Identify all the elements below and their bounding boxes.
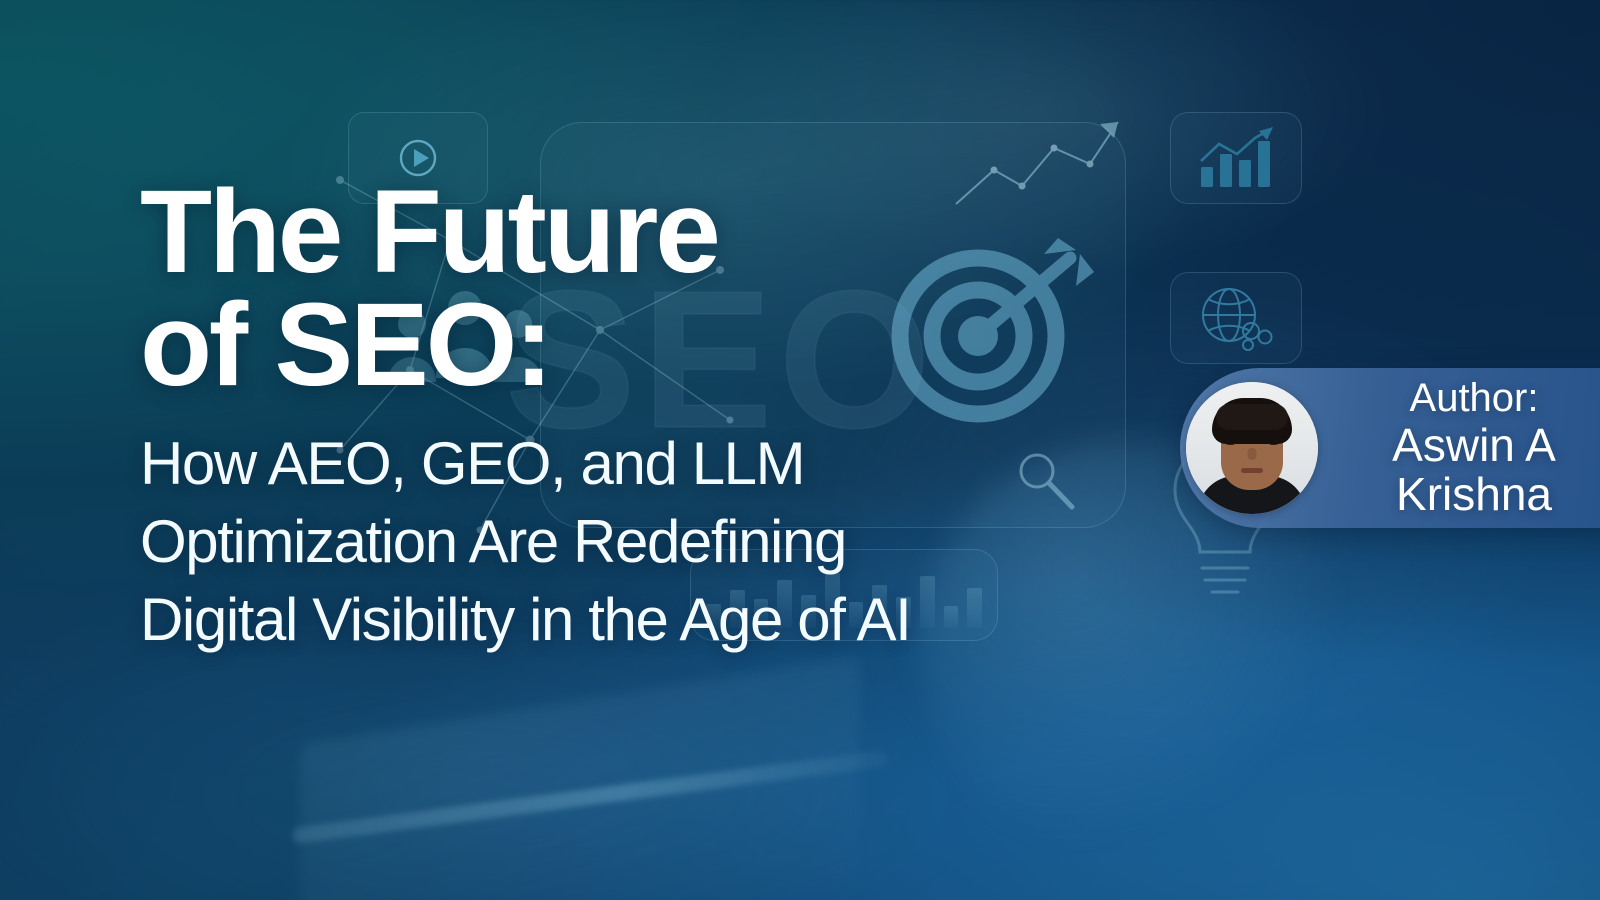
subtitle-line-2: Optimization Are Redefining [140, 503, 1160, 581]
author-text-block: Author: Aswin A Krishna [1318, 377, 1600, 519]
subtitle-line-3: Digital Visibility in the Age of AI [140, 581, 1160, 659]
page-title: The Future of SEO: [140, 176, 1160, 403]
author-name: Aswin A Krishna [1322, 421, 1600, 519]
author-badge[interactable]: Author: Aswin A Krishna [1180, 368, 1600, 528]
headline-block: The Future of SEO: How AEO, GEO, and LLM… [140, 176, 1160, 659]
headline-line-2: of SEO: [140, 289, 1160, 402]
author-name-line-2: Krishna [1322, 470, 1600, 519]
subtitle-line-1: How AEO, GEO, and LLM [140, 425, 1160, 503]
author-label: Author: [1322, 377, 1600, 419]
avatar [1186, 382, 1318, 514]
page-subtitle: How AEO, GEO, and LLM Optimization Are R… [140, 425, 1160, 659]
author-name-line-1: Aswin A [1322, 421, 1600, 470]
hero-banner: SEO [0, 0, 1600, 900]
